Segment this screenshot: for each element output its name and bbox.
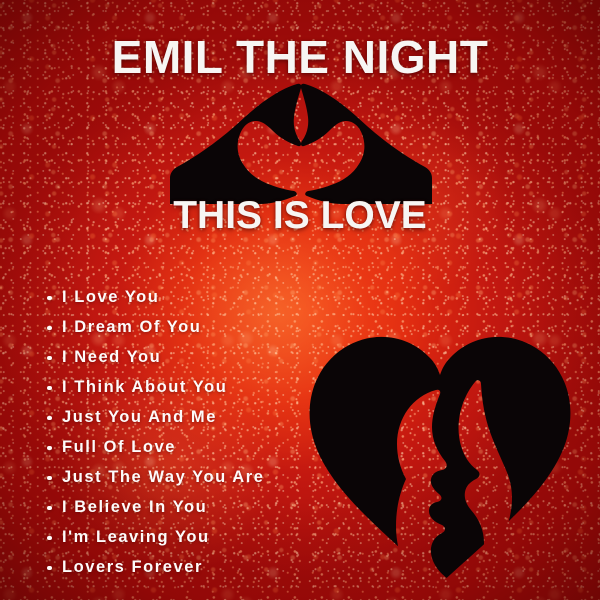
album-cover: EMIL THE NIGHT THIS IS LOVE I Love You I…	[0, 0, 600, 600]
track-item: Just The Way You Are	[44, 462, 264, 492]
track-item: Lovers Forever	[44, 552, 264, 582]
track-item: I Need You	[44, 342, 264, 372]
track-item: I Think About You	[44, 372, 264, 402]
hands-forming-heart-icon	[163, 82, 439, 204]
track-item: I'm Leaving You	[44, 522, 264, 552]
tracklist: I Love You I Dream Of You I Need You I T…	[44, 282, 264, 582]
track-item: I Dream Of You	[44, 312, 264, 342]
track-item: Just You And Me	[44, 402, 264, 432]
track-item: Full Of Love	[44, 432, 264, 462]
artist-name: EMIL THE NIGHT	[0, 34, 600, 80]
track-item: I Believe In You	[44, 492, 264, 522]
album-title: THIS IS LOVE	[0, 196, 600, 235]
couple-in-heart-icon	[296, 322, 584, 590]
track-item: I Love You	[44, 282, 264, 312]
